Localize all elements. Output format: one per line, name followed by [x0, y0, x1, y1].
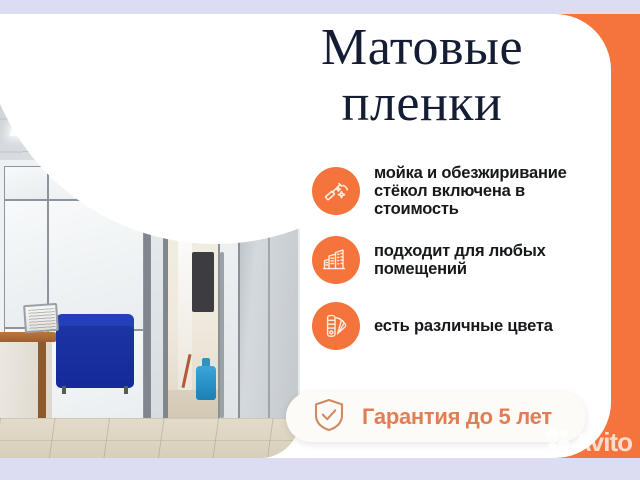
tiled-floor — [0, 418, 300, 458]
page-title: Матовые пленки — [252, 20, 592, 132]
avito-watermark-label: Avito — [573, 427, 632, 458]
sofa-leg — [62, 386, 66, 394]
avito-logo-icon — [545, 427, 571, 458]
reception-desk-top — [0, 332, 56, 342]
feature-label: есть различные цвета — [374, 317, 553, 335]
content-column: Матовые пленки мойк — [300, 14, 611, 458]
promo-card: Автокредитование — [0, 14, 611, 458]
avito-watermark: Avito — [545, 427, 632, 458]
feature-item-premises: подходит для любых помещений — [312, 236, 611, 284]
corridor-shadow — [192, 252, 214, 312]
door-handle — [220, 252, 224, 418]
floor-tile-lines — [0, 418, 300, 458]
guarantee-badge-label: Гарантия до 5 лет — [362, 404, 552, 430]
buildings-icon — [312, 236, 360, 284]
laptop-screen — [23, 303, 59, 333]
guarantee-badge: Гарантия до 5 лет — [286, 392, 586, 442]
feature-item-cleaning: мойка и обезжиривание стёкол включена в … — [312, 164, 611, 218]
feature-label: мойка и обезжиривание стёкол включена в … — [374, 164, 611, 218]
door-side-panel — [150, 208, 164, 424]
glass-pane — [4, 166, 48, 200]
title-line-2: пленки — [252, 76, 592, 132]
page-background: Автокредитование — [0, 0, 640, 480]
sofa-leg — [124, 386, 128, 394]
feature-list: мойка и обезжиривание стёкол включена в … — [312, 164, 611, 368]
feature-label: подходит для любых помещений — [374, 242, 611, 278]
title-line-1: Матовые — [252, 20, 592, 76]
shield-check-icon — [312, 397, 346, 438]
squeegee-sparkle-icon — [312, 167, 360, 215]
water-bottle — [196, 366, 216, 400]
blue-sofa — [56, 326, 134, 388]
color-fan-icon — [312, 302, 360, 350]
feature-item-colors: есть различные цвета — [312, 302, 611, 350]
reception-desk-leg — [38, 342, 46, 428]
